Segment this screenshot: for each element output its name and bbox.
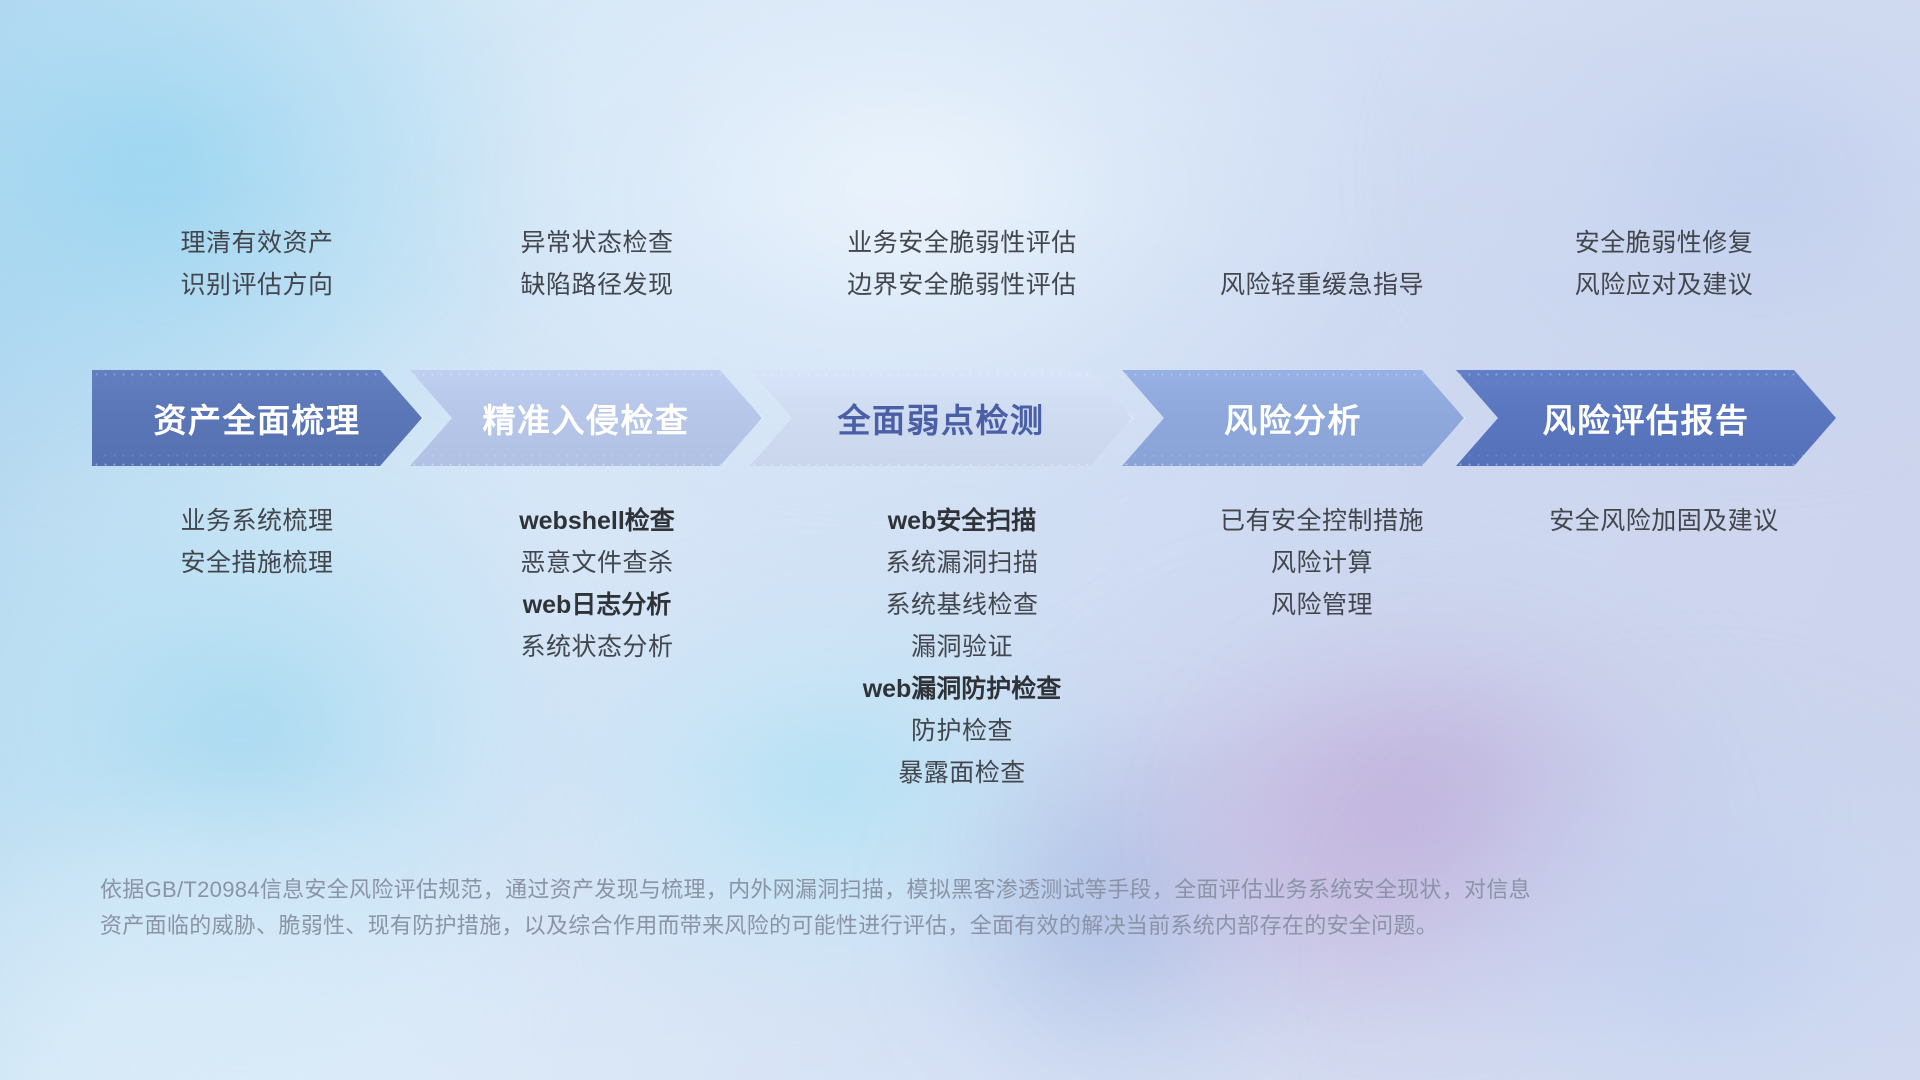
stage-task-item: 系统基线检查 (772, 584, 1152, 626)
stage-task-item: 恶意文件查杀 (422, 542, 772, 584)
stage-arrow-label: 资产全面梳理 (154, 394, 361, 442)
stage-outcomes-risk-report: 安全脆弱性修复风险应对及建议 (1492, 222, 1836, 306)
stage-outcome-item: 安全脆弱性修复 (1492, 222, 1836, 264)
stage-task-item: web安全扫描 (772, 500, 1152, 542)
stage-outcome-item: 异常状态检查 (422, 222, 772, 264)
stage-task-item: 风险计算 (1152, 542, 1492, 584)
stage-arrow-weakness-detection[interactable]: 全面弱点检测 (750, 370, 1132, 466)
stage-outcomes-intrusion-check: 异常状态检查缺陷路径发现 (422, 222, 772, 306)
stage-task-item: 系统漏洞扫描 (772, 542, 1152, 584)
stage-outcome-item: 风险应对及建议 (1492, 264, 1836, 306)
stage-outcomes-weakness-detection: 业务安全脆弱性评估边界安全脆弱性评估 (772, 222, 1152, 306)
stage-tasks-risk-analysis: 已有安全控制措施风险计算风险管理 (1152, 500, 1492, 626)
process-diagram: 理清有效资产识别评估方向异常状态检查缺陷路径发现业务安全脆弱性评估边界安全脆弱性… (0, 0, 1920, 1080)
stage-task-item: 漏洞验证 (772, 626, 1152, 668)
stage-arrow-label: 精准入侵检查 (483, 394, 690, 442)
stage-tasks-weakness-detection: web安全扫描系统漏洞扫描系统基线检查漏洞验证web漏洞防护检查防护检查暴露面检… (772, 500, 1152, 794)
stage-task-item: 安全措施梳理 (92, 542, 422, 584)
stage-task-item: 业务系统梳理 (92, 500, 422, 542)
stage-tasks-asset-inventory: 业务系统梳理安全措施梳理 (92, 500, 422, 584)
stage-outcomes-row: 理清有效资产识别评估方向异常状态检查缺陷路径发现业务安全脆弱性评估边界安全脆弱性… (92, 222, 1836, 342)
stage-arrow-label: 全面弱点检测 (838, 394, 1045, 442)
footer-line-1: 依据GB/T20984信息安全风险评估规范，通过资产发现与梳理，内外网漏洞扫描，… (100, 872, 1740, 908)
stage-task-item: 防护检查 (772, 710, 1152, 752)
stage-arrow-band: 资产全面梳理精准入侵检查全面弱点检测风险分析风险评估报告 (92, 370, 1836, 466)
stage-arrow-label: 风险分析 (1224, 394, 1362, 442)
stage-outcome-item: 缺陷路径发现 (422, 264, 772, 306)
stage-task-item: 风险管理 (1152, 584, 1492, 626)
stage-outcome-item: 识别评估方向 (92, 264, 422, 306)
stage-outcome-item: 风险轻重缓急指导 (1152, 264, 1492, 306)
stage-outcomes-asset-inventory: 理清有效资产识别评估方向 (92, 222, 422, 306)
stage-arrow-risk-report[interactable]: 风险评估报告 (1456, 370, 1836, 466)
stage-tasks-risk-report: 安全风险加固及建议 (1492, 500, 1836, 542)
stage-outcome-item: 理清有效资产 (92, 222, 422, 264)
stage-task-item: webshell检查 (422, 500, 772, 542)
stage-outcomes-risk-analysis: 风险轻重缓急指导 (1152, 264, 1492, 306)
stage-task-item: 已有安全控制措施 (1152, 500, 1492, 542)
stage-arrow-asset-inventory[interactable]: 资产全面梳理 (92, 370, 422, 466)
stage-task-item: 系统状态分析 (422, 626, 772, 668)
stage-arrow-intrusion-check[interactable]: 精准入侵检查 (410, 370, 762, 466)
stage-tasks-intrusion-check: webshell检查恶意文件查杀web日志分析系统状态分析 (422, 500, 772, 668)
stage-task-item: 暴露面检查 (772, 752, 1152, 794)
stage-task-item: web日志分析 (422, 584, 772, 626)
stage-tasks-row: 业务系统梳理安全措施梳理webshell检查恶意文件查杀web日志分析系统状态分… (92, 500, 1836, 840)
stage-outcome-item: 边界安全脆弱性评估 (772, 264, 1152, 306)
stage-outcome-item: 业务安全脆弱性评估 (772, 222, 1152, 264)
stage-arrow-risk-analysis[interactable]: 风险分析 (1122, 370, 1464, 466)
stage-task-item: 安全风险加固及建议 (1492, 500, 1836, 542)
footer-line-2: 资产面临的威胁、脆弱性、现有防护措施，以及综合作用而带来风险的可能性进行评估，全… (100, 908, 1740, 944)
stage-arrow-label: 风险评估报告 (1543, 394, 1750, 442)
footer-description: 依据GB/T20984信息安全风险评估规范，通过资产发现与梳理，内外网漏洞扫描，… (100, 872, 1740, 943)
stage-task-item: web漏洞防护检查 (772, 668, 1152, 710)
